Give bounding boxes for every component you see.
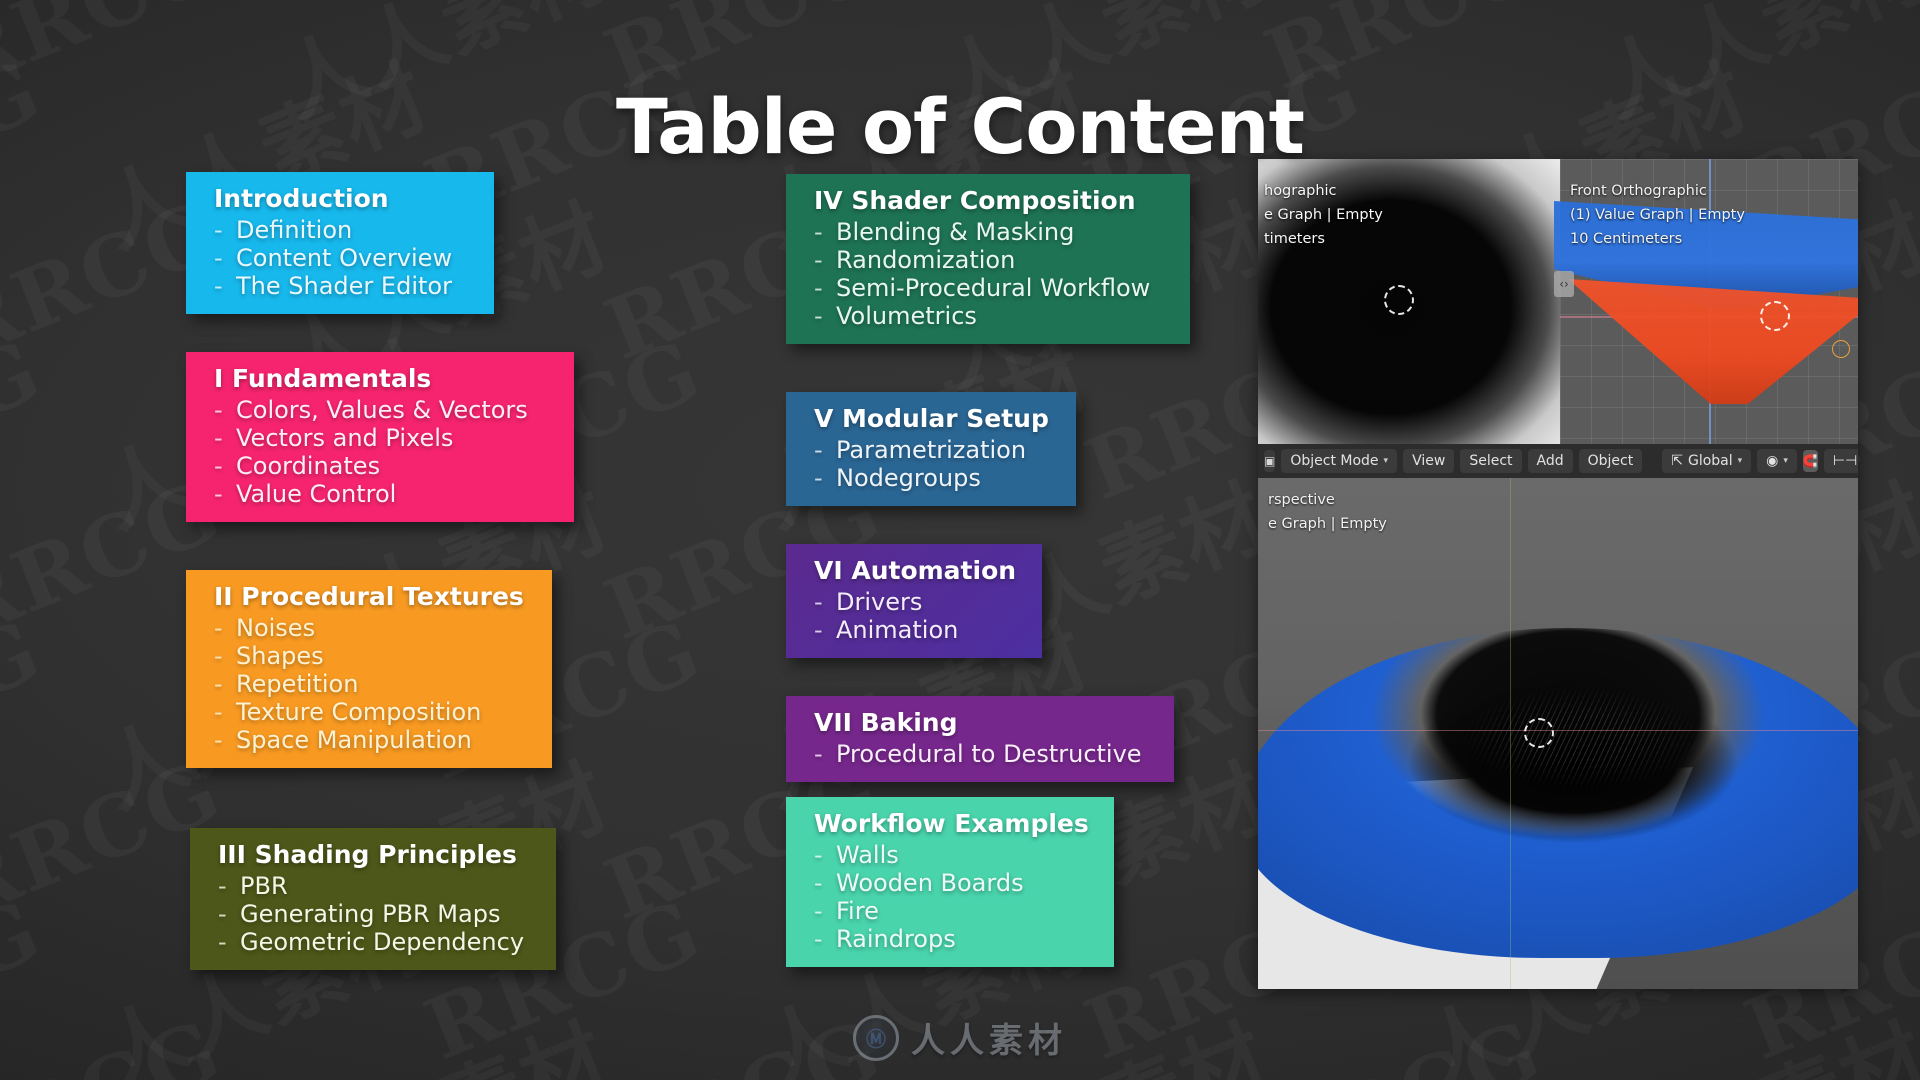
list-item[interactable]: -Vectors and Pixels — [214, 424, 558, 452]
transform-orientation-selector[interactable]: ⇱ Global▾ — [1662, 449, 1751, 473]
card-items: -PBR -Generating PBR Maps -Geometric Dep… — [218, 872, 540, 956]
list-item[interactable]: -Blending & Masking — [814, 218, 1174, 246]
menu-view[interactable]: View — [1403, 449, 1454, 473]
card-items: -Walls -Wooden Boards -Fire -Raindrops — [814, 841, 1098, 953]
blender-header-toolbar[interactable]: ▣ Object Mode▾ View Select Add Object ⇱ … — [1258, 444, 1858, 478]
viewport-splitter-handle[interactable]: ‹› — [1554, 271, 1574, 297]
list-item[interactable]: -Randomization — [814, 246, 1174, 274]
dash-icon: - — [214, 642, 223, 670]
card-baking[interactable]: VII Baking -Procedural to Destructive — [786, 696, 1174, 782]
y-axis-line — [1510, 478, 1511, 989]
list-item[interactable]: -Shapes — [214, 642, 536, 670]
dash-icon: - — [218, 900, 227, 928]
list-item[interactable]: -Raindrops — [814, 925, 1098, 953]
card-items: -Noises -Shapes -Repetition -Texture Com… — [214, 614, 536, 754]
page-title: Table of Content — [0, 89, 1920, 165]
card-items: -Definition -Content Overview -The Shade… — [214, 216, 478, 300]
dash-icon: - — [814, 616, 823, 644]
viewport-right-line1: Front Orthographic — [1570, 183, 1707, 199]
card-shader-composition[interactable]: IV Shader Composition -Blending & Maskin… — [786, 174, 1190, 344]
3d-cursor-icon — [1524, 718, 1554, 748]
list-item[interactable]: -Repetition — [214, 670, 536, 698]
dash-icon: - — [214, 698, 223, 726]
dash-icon: - — [814, 246, 823, 274]
list-item[interactable]: -Content Overview — [214, 244, 478, 272]
list-item[interactable]: -Noises — [214, 614, 536, 642]
dash-icon: - — [214, 480, 223, 508]
dash-icon: - — [814, 588, 823, 616]
viewport-bottom-line1: rspective — [1268, 492, 1335, 508]
card-procedural-textures[interactable]: II Procedural Textures -Noises -Shapes -… — [186, 570, 552, 768]
card-items: -Drivers -Animation — [814, 588, 1026, 644]
list-item[interactable]: -The Shader Editor — [214, 272, 478, 300]
site-watermark-logo: Ⓜ 人人素材 — [0, 1013, 1920, 1062]
card-modular-setup[interactable]: V Modular Setup -Parametrization -Nodegr… — [786, 392, 1076, 506]
list-item[interactable]: -Volumetrics — [814, 302, 1174, 330]
card-heading: VI Automation — [814, 554, 1026, 587]
chevron-down-icon: ▾ — [1384, 456, 1389, 466]
card-heading: I Fundamentals — [214, 362, 558, 395]
list-item[interactable]: -Definition — [214, 216, 478, 244]
list-item[interactable]: -Coordinates — [214, 452, 558, 480]
chevron-right-icon: › — [1564, 277, 1569, 291]
mesh-bowl-speckles — [1418, 673, 1748, 813]
card-heading: IV Shader Composition — [814, 184, 1174, 217]
dash-icon: - — [814, 464, 823, 492]
list-item[interactable]: -Procedural to Destructive — [814, 740, 1158, 768]
dash-icon: - — [214, 726, 223, 754]
menu-object[interactable]: Object — [1579, 449, 1643, 473]
card-introduction[interactable]: Introduction -Definition -Content Overvi… — [186, 172, 494, 314]
card-heading: II Procedural Textures — [214, 580, 536, 613]
dash-icon: - — [214, 272, 223, 300]
pivot-point-selector[interactable]: ◉▾ — [1757, 449, 1797, 473]
list-item[interactable]: -Colors, Values & Vectors — [214, 396, 558, 424]
viewport-bottom[interactable]: rspective e Graph | Empty — [1258, 478, 1858, 989]
menu-select[interactable]: Select — [1460, 449, 1521, 473]
list-item[interactable]: -Semi-Procedural Workflow — [814, 274, 1174, 302]
mode-selector[interactable]: Object Mode▾ — [1281, 449, 1397, 473]
dash-icon: - — [214, 614, 223, 642]
list-item[interactable]: -Animation — [814, 616, 1026, 644]
dash-icon: - — [814, 869, 823, 897]
dash-icon: - — [814, 925, 823, 953]
chevron-down-icon: ▾ — [1738, 456, 1743, 466]
list-item[interactable]: -Walls — [814, 841, 1098, 869]
card-heading: Introduction — [214, 182, 478, 215]
viewport-left[interactable]: hographic e Graph | Empty timeters — [1258, 159, 1560, 444]
empty-object-icon — [1832, 340, 1850, 358]
menu-add[interactable]: Add — [1528, 449, 1573, 473]
card-heading: VII Baking — [814, 706, 1158, 739]
list-item[interactable]: -Parametrization — [814, 436, 1060, 464]
x-axis-line — [1258, 730, 1858, 731]
editor-type-icon[interactable]: ▣ — [1264, 450, 1275, 472]
dash-icon: - — [214, 670, 223, 698]
dash-icon: - — [218, 872, 227, 900]
card-heading: III Shading Principles — [218, 838, 540, 871]
dash-icon: - — [814, 302, 823, 330]
list-item[interactable]: -Generating PBR Maps — [218, 900, 540, 928]
dash-icon: - — [814, 218, 823, 246]
viewport-right[interactable]: Front Orthographic (1) Value Graph | Emp… — [1560, 159, 1858, 444]
dash-icon: - — [214, 244, 223, 272]
card-fundamentals[interactable]: I Fundamentals -Colors, Values & Vectors… — [186, 352, 574, 522]
blender-screenshot-panel[interactable]: hographic e Graph | Empty timeters Front… — [1258, 159, 1858, 989]
list-item[interactable]: -Nodegroups — [814, 464, 1060, 492]
dash-icon: - — [814, 740, 823, 768]
viewport-right-line2: (1) Value Graph | Empty — [1570, 207, 1745, 223]
dash-icon: - — [814, 897, 823, 925]
dash-icon: - — [214, 452, 223, 480]
card-items: -Blending & Masking -Randomization -Semi… — [814, 218, 1174, 330]
list-item[interactable]: -Fire — [814, 897, 1098, 925]
card-items: -Parametrization -Nodegroups — [814, 436, 1060, 492]
list-item[interactable]: -Texture Composition — [214, 698, 536, 726]
viewport-right-line3: 10 Centimeters — [1570, 231, 1682, 247]
list-item[interactable]: -PBR — [218, 872, 540, 900]
orientation-axis-icon: ⇱ — [1671, 453, 1683, 469]
snap-magnet-icon[interactable]: 🧲 — [1803, 450, 1818, 472]
card-heading: V Modular Setup — [814, 402, 1060, 435]
card-shading-principles[interactable]: III Shading Principles -PBR -Generating … — [190, 828, 556, 970]
dash-icon: - — [814, 436, 823, 464]
viewport-left-line2: e Graph | Empty — [1264, 207, 1383, 223]
logo-text: 人人素材 — [911, 1013, 1067, 1062]
dash-icon: - — [814, 841, 823, 869]
dash-icon: - — [218, 928, 227, 956]
blender-top-viewports: hographic e Graph | Empty timeters Front… — [1258, 159, 1858, 444]
viewport-bottom-line2: e Graph | Empty — [1268, 516, 1387, 532]
3d-cursor-icon — [1760, 301, 1790, 331]
dash-icon: - — [814, 274, 823, 302]
dash-icon: - — [214, 424, 223, 452]
dash-icon: - — [214, 216, 223, 244]
logo-mark-icon: Ⓜ — [853, 1015, 899, 1061]
list-item[interactable]: -Drivers — [814, 588, 1026, 616]
card-items: -Procedural to Destructive — [814, 740, 1158, 768]
snap-target-selector[interactable]: ⊢⊣▾ — [1824, 449, 1858, 473]
card-heading: Workflow Examples — [814, 807, 1098, 840]
viewport-left-line3: timeters — [1264, 231, 1325, 247]
list-item[interactable]: -Wooden Boards — [814, 869, 1098, 897]
3d-cursor-icon — [1384, 285, 1414, 315]
list-item[interactable]: -Geometric Dependency — [218, 928, 540, 956]
card-workflow-examples[interactable]: Workflow Examples -Walls -Wooden Boards … — [786, 797, 1114, 967]
viewport-left-line1: hographic — [1264, 183, 1337, 199]
list-item[interactable]: -Space Manipulation — [214, 726, 536, 754]
card-items: -Colors, Values & Vectors -Vectors and P… — [214, 396, 558, 508]
list-item[interactable]: -Value Control — [214, 480, 558, 508]
card-automation[interactable]: VI Automation -Drivers -Animation — [786, 544, 1042, 658]
chevron-down-icon: ▾ — [1783, 456, 1788, 466]
snap-increment-icon: ⊢⊣ — [1833, 453, 1857, 469]
pivot-icon: ◉ — [1766, 453, 1778, 469]
dash-icon: - — [214, 396, 223, 424]
